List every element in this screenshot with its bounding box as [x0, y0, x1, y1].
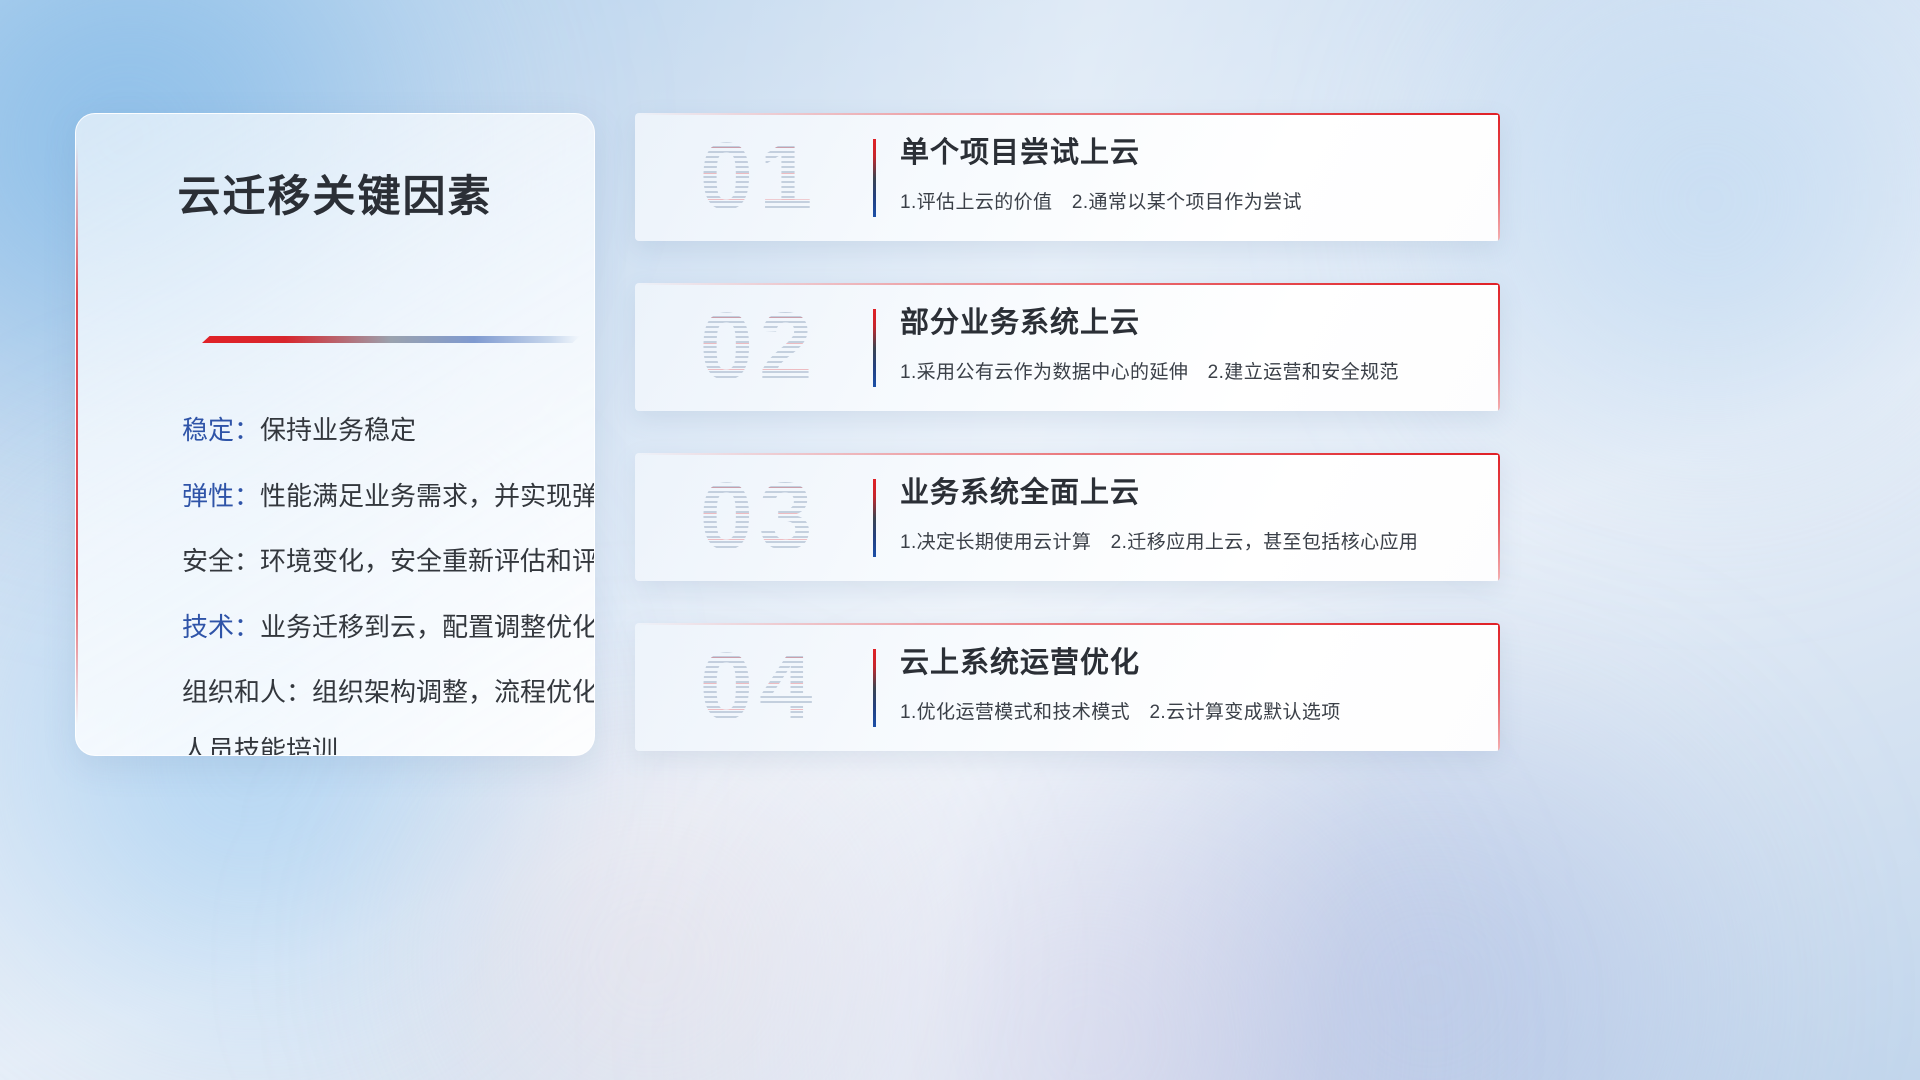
- card-description: 1.评估上云的价值 2.通常以某个项目作为尝试: [900, 187, 1460, 214]
- page-title: 云迁移关键因素: [76, 162, 594, 224]
- card-divider: [873, 309, 876, 387]
- title-underline-rule: [202, 336, 580, 343]
- list-item: 技术：业务迁移到云，配置调整优化: [182, 611, 564, 644]
- factor-key: 安全：: [182, 546, 260, 576]
- card-description: 1.优化运营模式和技术模式 2.云计算变成默认选项: [900, 697, 1460, 724]
- stage-card[interactable]: 03 03 业务系统全面上云 1.决定长期使用云计算 2.迁移应用上云，甚至包括…: [635, 453, 1500, 581]
- card-divider: [873, 139, 876, 217]
- key-factors-list: 稳定：保持业务稳定 弹性：性能满足业务需求，并实现弹性 安全：环境变化，安全重新…: [182, 414, 564, 756]
- card-divider: [873, 479, 876, 557]
- factor-text: 保持业务稳定: [260, 415, 416, 445]
- migration-stage-cards: 01 01 单个项目尝试上云 1.评估上云的价值 2.通常以某个项目作为尝试 0…: [635, 113, 1500, 793]
- stage-card[interactable]: 02 02 部分业务系统上云 1.采用公有云作为数据中心的延伸 2.建立运营和安…: [635, 283, 1500, 411]
- key-factors-panel: 云迁移关键因素 稳定：保持业务稳定 弹性：性能满足业务需求，并实现弹性 安全：环…: [75, 113, 595, 756]
- stage-number-glitch-overlay: 04: [659, 631, 859, 743]
- card-body: 单个项目尝试上云 1.评估上云的价值 2.通常以某个项目作为尝试: [900, 135, 1460, 214]
- stage-number-glitch-overlay: 02: [659, 291, 859, 403]
- stage-number-glitch-overlay: 03: [659, 461, 859, 573]
- card-description: 1.决定长期使用云计算 2.迁移应用上云，甚至包括核心应用: [900, 527, 1460, 554]
- factor-text: 人员技能培训: [182, 735, 338, 757]
- card-title: 部分业务系统上云: [900, 305, 1460, 343]
- list-item: 稳定：保持业务稳定: [182, 414, 564, 447]
- factor-key: 弹性：: [182, 481, 260, 511]
- card-title: 业务系统全面上云: [900, 475, 1460, 513]
- factor-key: 技术：: [182, 612, 260, 642]
- factor-text: 组织架构调整，流程优化，: [312, 677, 595, 707]
- card-body: 部分业务系统上云 1.采用公有云作为数据中心的延伸 2.建立运营和安全规范: [900, 305, 1460, 384]
- card-body: 业务系统全面上云 1.决定长期使用云计算 2.迁移应用上云，甚至包括核心应用: [900, 475, 1460, 554]
- list-item: 组织和人：组织架构调整，流程优化，: [182, 676, 564, 709]
- card-divider: [873, 649, 876, 727]
- stage-card[interactable]: 04 04 云上系统运营优化 1.优化运营模式和技术模式 2.云计算变成默认选项: [635, 623, 1500, 751]
- list-item: 安全：环境变化，安全重新评估和评审: [182, 545, 564, 578]
- card-title: 单个项目尝试上云: [900, 135, 1460, 173]
- stage-card[interactable]: 01 01 单个项目尝试上云 1.评估上云的价值 2.通常以某个项目作为尝试: [635, 113, 1500, 241]
- factor-key: 组织和人：: [182, 677, 312, 707]
- list-item: 弹性：性能满足业务需求，并实现弹性: [182, 480, 564, 513]
- card-title: 云上系统运营优化: [900, 645, 1460, 683]
- factor-text: 性能满足业务需求，并实现弹性: [260, 481, 595, 511]
- card-body: 云上系统运营优化 1.优化运营模式和技术模式 2.云计算变成默认选项: [900, 645, 1460, 724]
- factor-text: 环境变化，安全重新评估和评审: [260, 546, 595, 576]
- factor-text: 业务迁移到云，配置调整优化: [260, 612, 595, 642]
- list-item-continuation: 人员技能培训: [182, 734, 564, 757]
- card-description: 1.采用公有云作为数据中心的延伸 2.建立运营和安全规范: [900, 357, 1460, 384]
- stage-number-glitch-overlay: 01: [659, 121, 859, 233]
- factor-key: 稳定：: [182, 415, 260, 445]
